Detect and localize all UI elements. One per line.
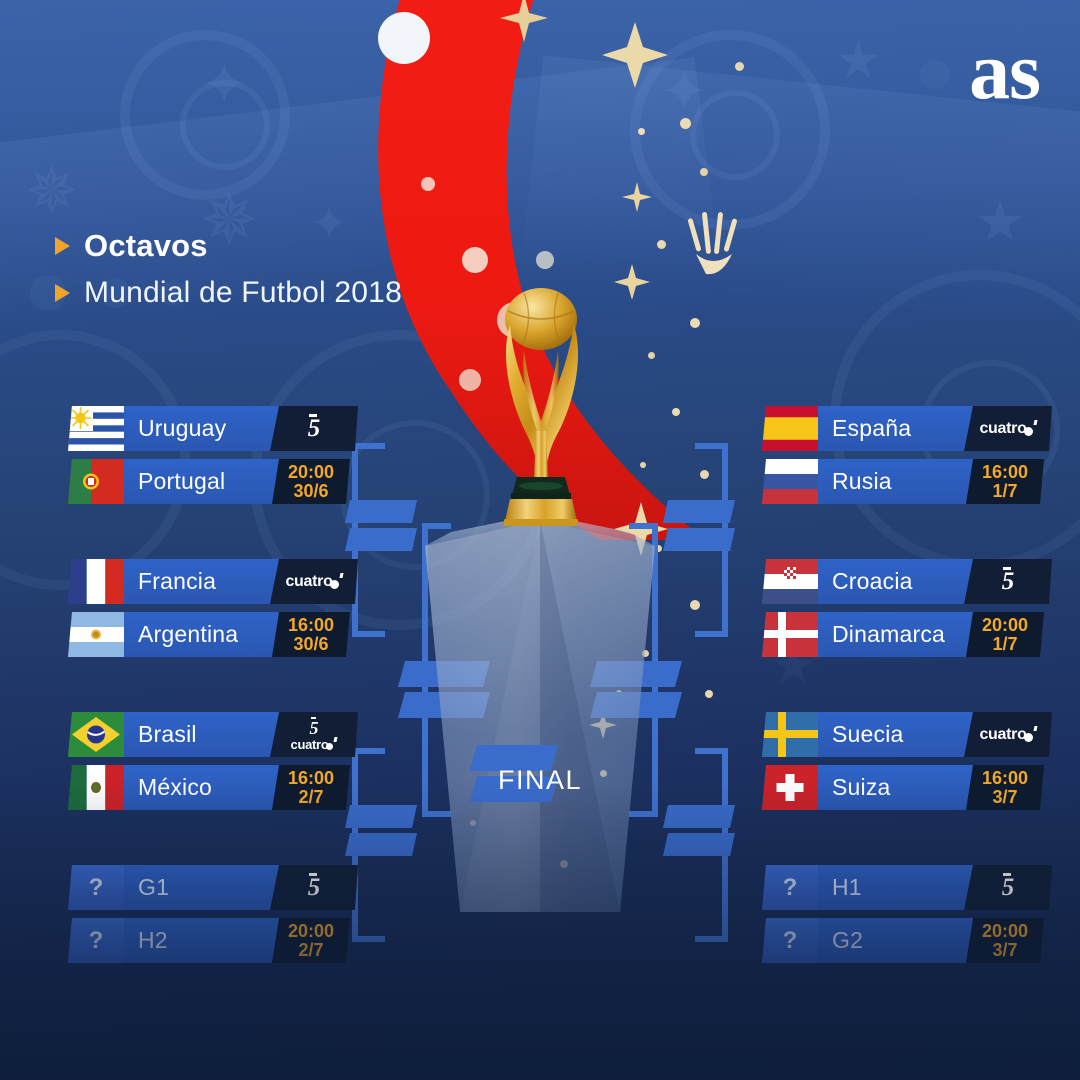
team-name: Croacia	[818, 568, 913, 595]
kickoff-time: 16:00	[288, 616, 334, 635]
page-title: Octavos	[84, 228, 208, 264]
match-croacia-dinamarca[interactable]: Croacia 5 Dinamarca 20:00 1/7	[762, 559, 1030, 659]
match-francia-argentina[interactable]: Francia cuatro Argentina 16:00	[68, 559, 336, 659]
bottom-vignette	[0, 780, 1080, 1080]
match-date: 30/6	[293, 635, 328, 654]
portugal-flag	[68, 459, 124, 504]
match-slot-home[interactable]: España cuatro	[762, 406, 1030, 451]
match-time-badge: 20:00 30/6	[272, 459, 350, 504]
channel-badge: 5 cuatro	[270, 712, 358, 757]
croatia-flag	[762, 559, 818, 604]
match-date: 30/6	[293, 482, 328, 501]
cuatro-logo: cuatro	[285, 574, 342, 590]
triangle-right-icon	[55, 284, 70, 302]
quarterfinal-slot	[345, 528, 417, 551]
header-title-row: Octavos	[55, 228, 402, 264]
channel-logo-stack: 5 cuatro	[291, 719, 338, 751]
telecinco-5-logo: 5	[310, 719, 319, 737]
match-slot-home[interactable]: Francia cuatro	[68, 559, 336, 604]
team-name: Uruguay	[124, 415, 226, 442]
channel-badge: 5	[964, 559, 1052, 604]
cuatro-logo: cuatro	[979, 727, 1036, 743]
spain-flag	[762, 406, 818, 451]
kickoff-time: 20:00	[288, 463, 334, 482]
team-name: Suecia	[818, 721, 904, 748]
page-subtitle: Mundial de Futbol 2018	[84, 276, 402, 310]
team-name: Brasil	[124, 721, 197, 748]
team-name: Dinamarca	[818, 621, 945, 648]
match-slot-home[interactable]: Brasil 5 cuatro	[68, 712, 336, 757]
channel-badge: cuatro	[964, 712, 1052, 757]
quarterfinal-slot	[663, 528, 735, 551]
match-slot-away[interactable]: Argentina 16:00 30/6	[68, 612, 336, 657]
header-block: Octavos Mundial de Futbol 2018	[55, 228, 402, 310]
telecinco-5-logo: 5	[1002, 569, 1015, 594]
match-uruguay-portugal[interactable]: Uruguay 5 Portugal	[68, 406, 336, 506]
france-flag	[68, 559, 124, 604]
russia-flag	[762, 459, 818, 504]
quarterfinal-slot	[663, 500, 735, 523]
channel-badge: 5	[270, 406, 358, 451]
brazil-flag	[68, 712, 124, 757]
team-name: España	[818, 415, 911, 442]
argentina-flag	[68, 612, 124, 657]
world-cup-trophy-icon	[484, 281, 599, 531]
match-slot-away[interactable]: Rusia 16:00 1/7	[762, 459, 1030, 504]
quarterfinal-slot	[345, 500, 417, 523]
match-slot-away[interactable]: Portugal 20:00 30/6	[68, 459, 336, 504]
team-name: Portugal	[124, 468, 225, 495]
match-slot-home[interactable]: Uruguay 5	[68, 406, 336, 451]
sweden-flag	[762, 712, 818, 757]
team-name: Francia	[124, 568, 216, 595]
channel-badge: cuatro	[270, 559, 358, 604]
denmark-flag	[762, 612, 818, 657]
team-name: Rusia	[818, 468, 892, 495]
telecinco-5-logo: 5	[308, 416, 321, 441]
triangle-right-icon	[55, 237, 70, 255]
match-slot-away[interactable]: Dinamarca 20:00 1/7	[762, 612, 1030, 657]
cuatro-logo: cuatro	[291, 738, 338, 751]
match-time-badge: 16:00 1/7	[966, 459, 1044, 504]
kickoff-time: 20:00	[982, 616, 1028, 635]
match-slot-home[interactable]: Croacia 5	[762, 559, 1030, 604]
uruguay-flag	[68, 406, 124, 451]
kickoff-time: 16:00	[982, 463, 1028, 482]
match-espana-rusia[interactable]: España cuatro Rusia 16:00 1/7	[762, 406, 1030, 506]
infographic-canvas: ✵ ✦ ✵ ✦ ✵ ✦ ★ ★ ★ ★ ★	[0, 0, 1080, 1080]
as-diario-logo: as	[969, 32, 1040, 110]
match-date: 1/7	[992, 482, 1017, 501]
cuatro-logo: cuatro	[979, 421, 1036, 437]
match-slot-home[interactable]: Suecia cuatro	[762, 712, 1030, 757]
match-time-badge: 20:00 1/7	[966, 612, 1044, 657]
match-time-badge: 16:00 30/6	[272, 612, 350, 657]
channel-badge: cuatro	[964, 406, 1052, 451]
team-name: Argentina	[124, 621, 238, 648]
header-subtitle-row: Mundial de Futbol 2018	[55, 276, 402, 310]
match-date: 1/7	[992, 635, 1017, 654]
